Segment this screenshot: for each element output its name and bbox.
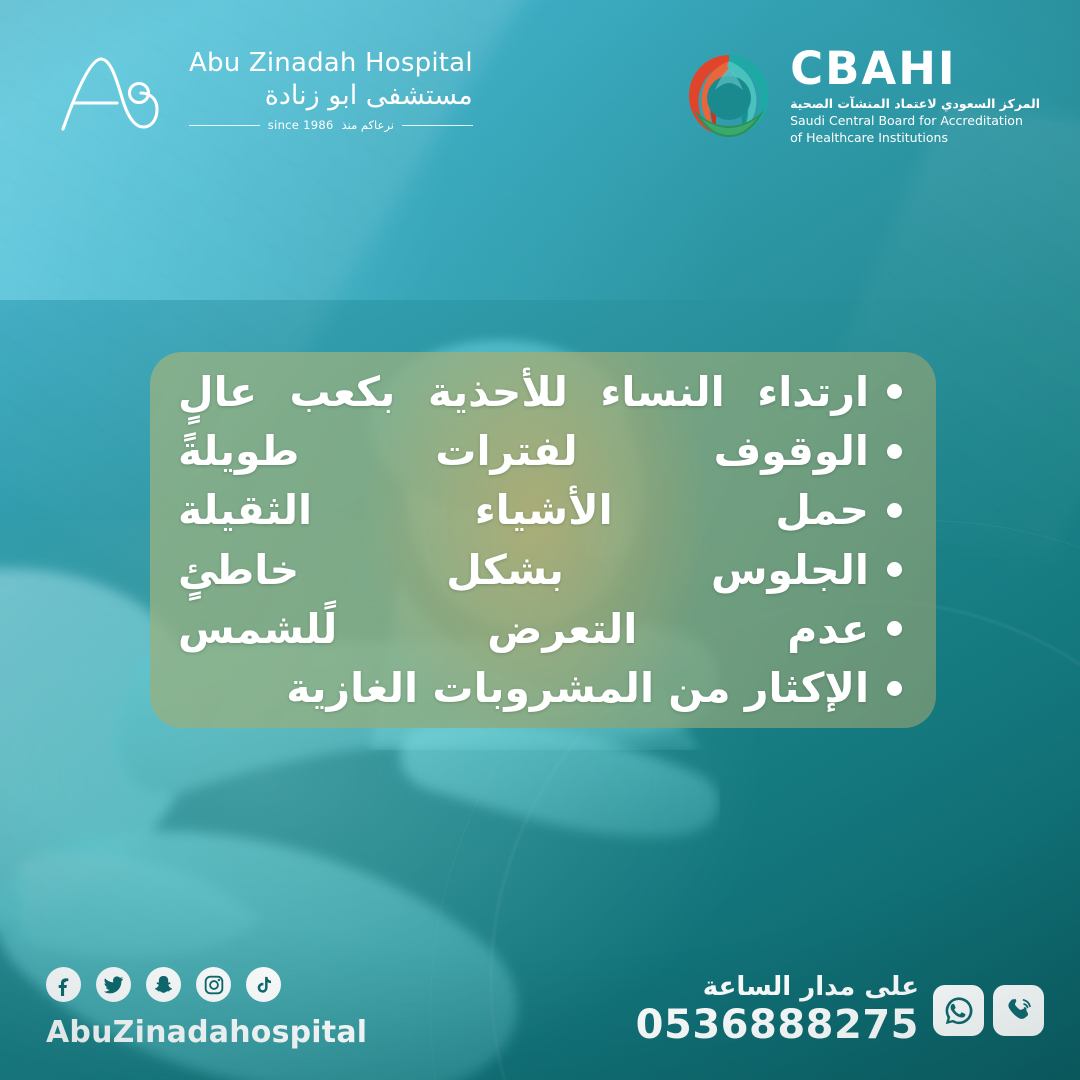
- tiktok-icon[interactable]: [246, 967, 281, 1002]
- facebook-icon[interactable]: [46, 967, 81, 1002]
- social-footer: AbuZinadahospital: [46, 967, 367, 1050]
- bullet-dot-icon: [887, 621, 902, 636]
- list-item-label: الإكثار من المشروبات الغازية: [178, 659, 869, 717]
- bullet-dot-icon: [887, 681, 902, 696]
- since-rule-left: [189, 125, 260, 126]
- messaging-icon-row: [933, 985, 1044, 1036]
- whatsapp-icon[interactable]: [933, 985, 984, 1036]
- cbahi-palm-circle-logo-icon: [685, 52, 773, 140]
- list-item: الجلوس بشكل خاطئٍ: [178, 541, 902, 599]
- list-item: ارتداء النساء للأحذية بكعب عالٍ: [178, 363, 902, 421]
- bullet-dot-icon: [887, 444, 902, 459]
- cbahi-name-en-line2: of Healthcare Institutions: [790, 130, 1040, 147]
- contact-text-block: على مدار الساعة 0536888275: [636, 973, 919, 1048]
- cbahi-name-en-line1: Saudi Central Board for Accreditation: [790, 113, 1040, 130]
- list-item-label: الجلوس بشكل خاطئٍ: [178, 541, 869, 599]
- availability-label: على مدار الساعة: [636, 973, 919, 1002]
- since-label-ar: نرعاكم منذ: [342, 118, 394, 132]
- viber-phone-icon[interactable]: [993, 985, 1044, 1036]
- hospital-brand-text: Abu Zinadah Hospital مستشفى ابو زنادة نر…: [189, 50, 473, 133]
- phone-number: 0536888275: [636, 1002, 919, 1048]
- list-item: الوقوف لفترات طويلةً: [178, 422, 902, 480]
- list-item: الإكثار من المشروبات الغازية: [178, 659, 902, 717]
- cbahi-acronym: CBAHI: [790, 46, 1040, 91]
- since-label-en: since 1986: [268, 118, 334, 132]
- poster-canvas: Abu Zinadah Hospital مستشفى ابو زنادة نر…: [0, 0, 1080, 1080]
- list-item: عدم التعرض لًلشمس: [178, 600, 902, 658]
- risk-factors-panel: ارتداء النساء للأحذية بكعب عالٍ الوقوف ل…: [150, 352, 936, 728]
- header: Abu Zinadah Hospital مستشفى ابو زنادة نر…: [0, 0, 1080, 180]
- instagram-icon[interactable]: [196, 967, 231, 1002]
- risk-factors-list: ارتداء النساء للأحذية بكعب عالٍ الوقوف ل…: [178, 363, 902, 717]
- abu-zinadah-a-stethoscope-logo-icon: [55, 45, 167, 137]
- since-rule-right: [402, 125, 473, 126]
- cbahi-name-ar: المركز السعودي لاعتماد المنشآت الصحية: [790, 96, 1040, 111]
- cbahi-accreditation-brand: CBAHI المركز السعودي لاعتماد المنشآت الص…: [685, 46, 1040, 146]
- list-item-label: الوقوف لفترات طويلةً: [178, 422, 869, 480]
- social-handle: AbuZinadahospital: [46, 1015, 367, 1050]
- list-item: حمل الأشياء الثقيلة: [178, 481, 902, 539]
- bullet-dot-icon: [887, 384, 902, 399]
- list-item-label: حمل الأشياء الثقيلة: [178, 481, 869, 539]
- hospital-brand: Abu Zinadah Hospital مستشفى ابو زنادة نر…: [55, 45, 473, 137]
- list-item-label: ارتداء النساء للأحذية بكعب عالٍ: [178, 363, 869, 421]
- hospital-since-line: نرعاكم منذ since 1986: [189, 118, 473, 132]
- twitter-icon[interactable]: [96, 967, 131, 1002]
- social-icon-row: [46, 967, 367, 1002]
- list-item-label: عدم التعرض لًلشمس: [178, 600, 869, 658]
- hospital-name-en: Abu Zinadah Hospital: [189, 50, 473, 77]
- snapchat-icon[interactable]: [146, 967, 181, 1002]
- bullet-dot-icon: [887, 503, 902, 518]
- contact-footer: على مدار الساعة 0536888275: [636, 973, 1044, 1048]
- bullet-dot-icon: [887, 562, 902, 577]
- cbahi-text-block: CBAHI المركز السعودي لاعتماد المنشآت الص…: [790, 46, 1040, 146]
- hospital-name-ar: مستشفى ابو زنادة: [189, 80, 473, 112]
